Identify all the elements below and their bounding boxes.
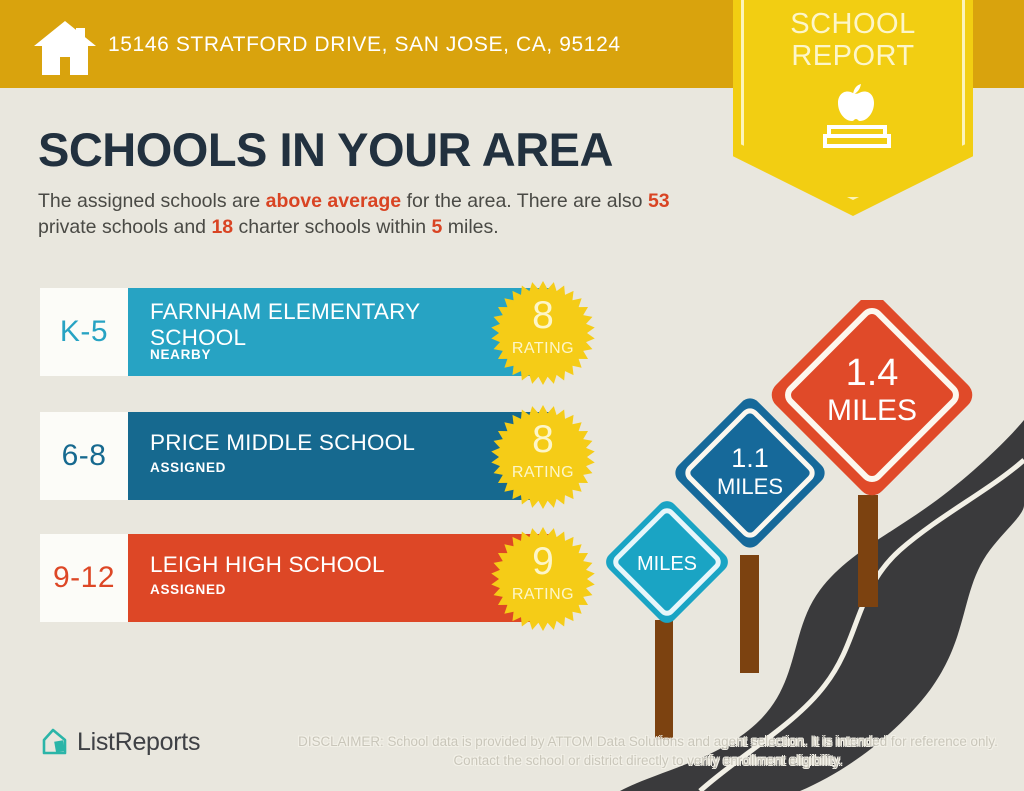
sign-post bbox=[858, 495, 878, 607]
listreports-house-icon bbox=[38, 727, 68, 757]
rating-label: RATING bbox=[490, 464, 596, 482]
rating-starburst: 9 RATING bbox=[490, 526, 596, 632]
road-sign: MILES bbox=[602, 497, 732, 627]
school-row[interactable]: 6-8 PRICE MIDDLE SCHOOL ASSIGNED 8 RATIN… bbox=[40, 412, 550, 500]
grade-label: 9-12 bbox=[53, 561, 115, 595]
school-status: NEARBY bbox=[150, 347, 211, 362]
sign-post bbox=[655, 620, 673, 740]
subtitle-accent-above-average: above average bbox=[266, 190, 402, 212]
subtitle-accent-charter-count: 18 bbox=[211, 216, 233, 238]
school-status: ASSIGNED bbox=[150, 582, 226, 597]
listreports-logo[interactable]: ListReports bbox=[38, 727, 200, 757]
subtitle-seg-2: for the area. There are also bbox=[401, 190, 648, 212]
grade-badge: 9-12 bbox=[40, 534, 128, 622]
svg-text:1.4: 1.4 bbox=[846, 352, 899, 394]
sign-post bbox=[740, 555, 759, 673]
badge-title: SCHOOL REPORT bbox=[733, 8, 973, 72]
badge-apple-book-art bbox=[733, 82, 973, 152]
svg-text:MILES: MILES bbox=[827, 394, 917, 427]
grade-label: 6-8 bbox=[62, 439, 107, 473]
svg-text:MILES: MILES bbox=[637, 553, 697, 575]
rating-label: RATING bbox=[490, 586, 596, 604]
school-name: LEIGH HIGH SCHOOL bbox=[150, 552, 480, 578]
subtitle-seg-3: private schools and bbox=[38, 216, 211, 238]
subtitle-accent-radius: 5 bbox=[431, 216, 442, 238]
grade-badge: 6-8 bbox=[40, 412, 128, 500]
subtitle-text: The assigned schools are above average f… bbox=[38, 188, 718, 240]
school-report-badge: SCHOOL REPORT bbox=[733, 0, 973, 216]
apple-icon bbox=[838, 84, 874, 121]
school-report-infographic: 15146 STRATFORD DRIVE, SAN JOSE, CA, 951… bbox=[0, 0, 1024, 791]
badge-title-line1: SCHOOL bbox=[733, 8, 973, 40]
school-name: PRICE MIDDLE SCHOOL bbox=[150, 430, 480, 456]
rating-label: RATING bbox=[490, 340, 596, 358]
rating-value: 8 bbox=[490, 296, 596, 336]
school-bar: PRICE MIDDLE SCHOOL ASSIGNED bbox=[128, 412, 550, 500]
grade-label: K-5 bbox=[60, 315, 108, 349]
school-bar: FARNHAM ELEMENTARY SCHOOL NEARBY bbox=[128, 288, 550, 376]
rating-starburst: 8 RATING bbox=[490, 404, 596, 510]
disclaimer-text: DISCLAIMER: School data is provided by A… bbox=[298, 732, 998, 770]
svg-text:1.1: 1.1 bbox=[731, 443, 769, 473]
road-with-distance-signs: 1.4 MILES 1.1 MILES MILES bbox=[600, 300, 1024, 791]
rating-value: 8 bbox=[490, 420, 596, 460]
school-row[interactable]: 9-12 LEIGH HIGH SCHOOL ASSIGNED 9 RATING bbox=[40, 534, 550, 622]
page-title: SCHOOLS IN YOUR AREA bbox=[38, 122, 613, 177]
subtitle-seg-4: charter schools within bbox=[233, 216, 431, 238]
badge-title-line2: REPORT bbox=[733, 40, 973, 72]
address-text: 15146 STRATFORD DRIVE, SAN JOSE, CA, 951… bbox=[108, 33, 621, 57]
book-icon bbox=[825, 127, 889, 146]
school-status: ASSIGNED bbox=[150, 460, 226, 475]
svg-text:MILES: MILES bbox=[717, 474, 783, 499]
rating-value: 9 bbox=[490, 542, 596, 582]
school-row[interactable]: K-5 FARNHAM ELEMENTARY SCHOOL NEARBY 8 R… bbox=[40, 288, 550, 376]
rating-starburst: 8 RATING bbox=[490, 280, 596, 386]
subtitle-accent-private-count: 53 bbox=[648, 190, 670, 212]
school-bar: LEIGH HIGH SCHOOL ASSIGNED bbox=[128, 534, 550, 622]
subtitle-seg-5: miles. bbox=[442, 216, 498, 238]
home-icon bbox=[32, 19, 98, 77]
listreports-logo-text: ListReports bbox=[77, 728, 200, 757]
school-name: FARNHAM ELEMENTARY SCHOOL bbox=[150, 299, 480, 351]
grade-badge: K-5 bbox=[40, 288, 128, 376]
subtitle-seg-1: The assigned schools are bbox=[38, 190, 266, 212]
